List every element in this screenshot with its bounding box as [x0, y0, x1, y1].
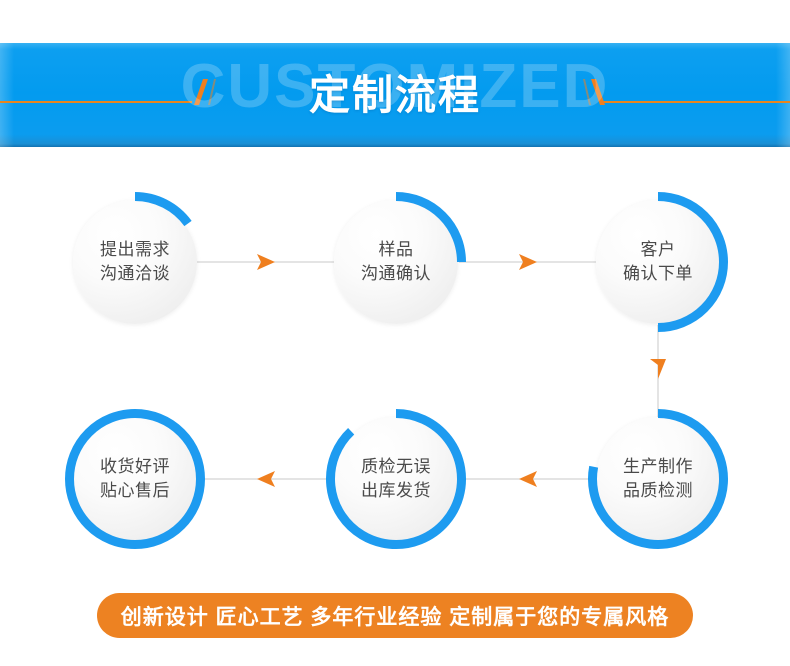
flow-rings-layer [0, 147, 790, 577]
flow-step-2-progress-ring [396, 197, 462, 263]
flow-step-3-progress-ring [658, 197, 724, 328]
footer-slogan-text: 创新设计 匠心工艺 多年行业经验 定制属于您的专属风格 [121, 601, 670, 631]
footer-slogan-banner: 创新设计 匠心工艺 多年行业经验 定制属于您的专属风格 [97, 593, 693, 638]
process-flow: 提出需求 沟通洽谈 样品 沟通确认 客户 确认下单 生产制作 品质检测 质检无误… [0, 147, 790, 577]
page-title: 定制流程 [0, 75, 790, 116]
flow-step-1-progress-ring [135, 197, 188, 224]
flow-step-4-progress-ring [592, 414, 723, 545]
flow-step-6-progress-ring [70, 414, 201, 545]
flow-step-5-progress-ring [331, 414, 462, 545]
